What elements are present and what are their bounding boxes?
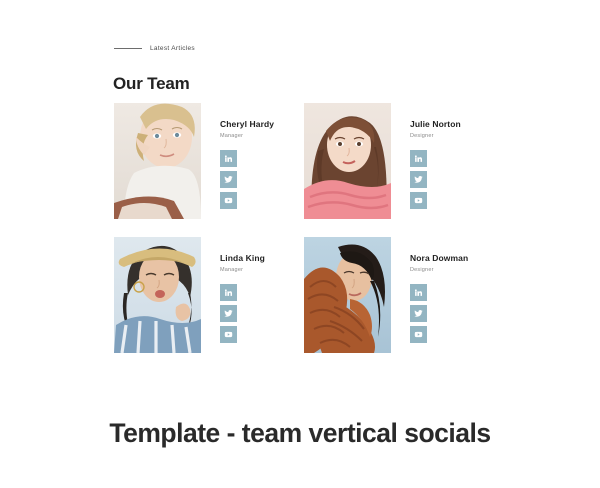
member-name: Linda King	[220, 254, 265, 263]
youtube-icon[interactable]	[410, 326, 427, 343]
linkedin-icon[interactable]	[220, 150, 237, 167]
team-member-card: Julie Norton Designer	[304, 103, 493, 237]
member-name: Cheryl Hardy	[220, 120, 274, 129]
team-grid: Cheryl Hardy Manager	[114, 103, 494, 371]
template-caption: Template - team vertical socials	[0, 418, 600, 449]
page-title: Our Team	[113, 74, 190, 94]
member-role: Designer	[410, 267, 468, 273]
social-links	[410, 150, 461, 209]
member-name: Nora Dowman	[410, 254, 468, 263]
social-links	[220, 284, 265, 343]
eyebrow-label: Latest Articles	[150, 45, 195, 52]
eyebrow: Latest Articles	[114, 45, 195, 52]
member-name: Julie Norton	[410, 120, 461, 129]
youtube-icon[interactable]	[220, 326, 237, 343]
twitter-icon[interactable]	[410, 171, 427, 188]
member-photo	[304, 103, 391, 219]
member-info: Linda King Manager	[201, 237, 265, 343]
team-member-card: Cheryl Hardy Manager	[114, 103, 304, 237]
member-info: Cheryl Hardy Manager	[201, 103, 274, 209]
team-member-card: Linda King Manager	[114, 237, 304, 371]
linkedin-icon[interactable]	[410, 284, 427, 301]
team-member-card: Nora Dowman Designer	[304, 237, 493, 371]
twitter-icon[interactable]	[220, 305, 237, 322]
linkedin-icon[interactable]	[220, 284, 237, 301]
member-role: Manager	[220, 267, 265, 273]
youtube-icon[interactable]	[220, 192, 237, 209]
twitter-icon[interactable]	[220, 171, 237, 188]
social-links	[220, 150, 274, 209]
member-photo	[114, 103, 201, 219]
team-section-page: Latest Articles Our Team	[0, 0, 600, 488]
eyebrow-rule	[114, 48, 142, 49]
linkedin-icon[interactable]	[410, 150, 427, 167]
youtube-icon[interactable]	[410, 192, 427, 209]
twitter-icon[interactable]	[410, 305, 427, 322]
member-role: Manager	[220, 133, 274, 139]
member-photo	[304, 237, 391, 353]
social-links	[410, 284, 468, 343]
member-info: Julie Norton Designer	[391, 103, 461, 209]
member-info: Nora Dowman Designer	[391, 237, 468, 343]
member-role: Designer	[410, 133, 461, 139]
member-photo	[114, 237, 201, 353]
